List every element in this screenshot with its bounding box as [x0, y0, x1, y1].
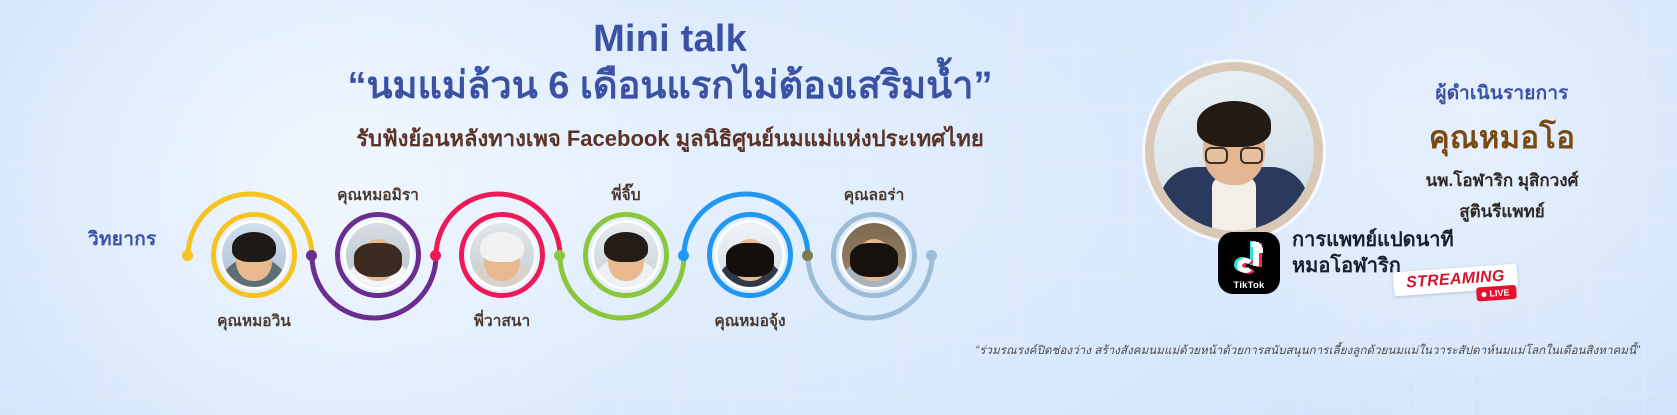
avatar-portrait	[222, 223, 286, 287]
avatar-portrait	[594, 223, 658, 287]
headline-subtitle: รับฟังย้อนหลังทางเพจ Facebook มูลนิธิศูน…	[250, 124, 1090, 155]
speaker-item-5[interactable]: คุณลอร่า	[814, 178, 934, 348]
speaker-name: คุณหมอจุ้ง	[714, 308, 785, 333]
headline-block: Mini talk “นมแม่ล้วน 6 เดือนแรกไม่ต้องเส…	[250, 18, 1090, 155]
speakers-timeline: วิทยากร	[0, 178, 1060, 348]
headline-title: Mini talk	[250, 18, 1090, 62]
tiktok-label: TikTok	[1218, 280, 1280, 291]
speaker-name: พี่วาสนา	[474, 308, 530, 333]
host-panel: ผู้ดำเนินรายการ คุณหมอโอ นพ.โอฬาริก มุสิ…	[1130, 56, 1670, 256]
headline-quote: “นมแม่ล้วน 6 เดือนแรกไม่ต้องเสริมน้ำ”	[250, 62, 1090, 111]
channel-name-line1: การแพทย์แปดนาที	[1292, 228, 1454, 254]
live-badge: LIVE	[1476, 285, 1517, 302]
avatar-portrait	[842, 223, 906, 287]
campaign-tagline: “ร่วมรณรงค์ปิดช่องว่าง สร้างสังคมนมแม่ด้…	[840, 342, 1640, 360]
tiktok-note-white	[1235, 242, 1265, 274]
host-nickname: คุณหมอโอ	[1342, 112, 1662, 162]
avatar-portrait	[346, 223, 410, 287]
speaker-item-3[interactable]: พี่จิ๊บ	[566, 178, 686, 348]
speaker-name: พี่จิ๊บ	[611, 182, 640, 207]
speakers-section-label: วิทยากร	[88, 224, 157, 254]
streaming-badge: STREAMING LIVE	[1393, 264, 1519, 313]
speaker-avatar	[583, 212, 669, 298]
speaker-item-0[interactable]: คุณหมอวิน	[194, 178, 314, 348]
channel-block: TikTok การแพทย์แปดนาที หมอโอฬาริก STREAM…	[1218, 228, 1677, 318]
glasses-icon	[1205, 147, 1263, 165]
host-role: ผู้ดำเนินรายการ	[1342, 78, 1662, 108]
speaker-avatar	[831, 212, 917, 298]
avatar-portrait	[718, 223, 782, 287]
live-dot-icon	[1481, 291, 1486, 296]
tiktok-icon[interactable]: TikTok	[1218, 232, 1280, 294]
live-label: LIVE	[1489, 287, 1510, 298]
host-full-name: นพ.โอฬาริก มุสิกวงศ์	[1342, 170, 1662, 193]
speaker-item-4[interactable]: คุณหมอจุ้ง	[690, 178, 810, 348]
speaker-name: คุณหมอมิรา	[337, 182, 419, 207]
speaker-name: คุณหมอวิน	[217, 308, 291, 333]
host-details: ผู้ดำเนินรายการ คุณหมอโอ นพ.โอฬาริก มุสิ…	[1342, 78, 1662, 224]
host-specialty: สูตินรีแพทย์	[1342, 201, 1662, 224]
speaker-avatar	[707, 212, 793, 298]
speaker-avatar	[459, 212, 545, 298]
speaker-name: คุณลอร่า	[844, 182, 905, 207]
host-avatar	[1145, 62, 1323, 240]
timeline-dot	[182, 250, 193, 261]
speaker-item-2[interactable]: พี่วาสนา	[442, 178, 562, 348]
promo-banner: Mini talk “นมแม่ล้วน 6 เดือนแรกไม่ต้องเส…	[0, 0, 1677, 415]
speaker-avatar	[211, 212, 297, 298]
avatar-portrait	[470, 223, 534, 287]
speaker-item-1[interactable]: คุณหมอมิรา	[318, 178, 438, 348]
speaker-avatar	[335, 212, 421, 298]
